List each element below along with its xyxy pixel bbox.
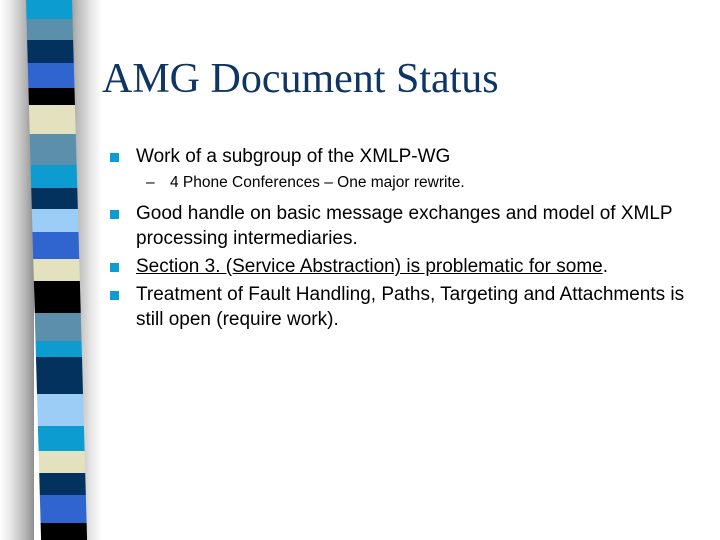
stripe-segment xyxy=(31,188,78,209)
bullet-item: Section 3. (Service Abstraction) is prob… xyxy=(102,254,702,279)
stripe-segment xyxy=(33,259,80,281)
en-dash-icon: – xyxy=(146,172,155,193)
stripe-segment xyxy=(32,209,79,232)
stripe-segment xyxy=(35,313,82,341)
stripe-segment xyxy=(32,232,79,259)
bullet-hyperlink-label[interactable]: Section 3. (Service Abstraction) is prob… xyxy=(136,254,702,279)
bullet-label: Treatment of Fault Handling, Paths, Targ… xyxy=(136,282,702,332)
bullet-item: Treatment of Fault Handling, Paths, Targ… xyxy=(102,282,702,332)
bullet-label: Good handle on basic message exchanges a… xyxy=(136,201,702,251)
stripe-segment xyxy=(30,134,77,165)
body-content: Work of a subgroup of the XMLP-WG–4 Phon… xyxy=(102,144,702,335)
square-bullet-icon xyxy=(110,291,119,300)
slide-canvas: AMG Document Status Work of a subgroup o… xyxy=(0,0,720,540)
bullet-label: Work of a subgroup of the XMLP-WG xyxy=(136,144,702,169)
stripe-segment xyxy=(27,19,74,40)
stripe-segment xyxy=(28,63,75,88)
square-bullet-icon xyxy=(110,263,119,272)
bullet-item: Good handle on basic message exchanges a… xyxy=(102,201,702,251)
square-bullet-icon xyxy=(110,210,119,219)
stripe-segment xyxy=(38,426,85,451)
stripe-segment xyxy=(40,495,87,522)
sidebar-decoration xyxy=(0,0,100,540)
stripe-segment xyxy=(39,451,86,473)
stripe-segment xyxy=(34,281,81,312)
stripe-segment xyxy=(41,523,87,540)
stripe-segment xyxy=(26,0,73,19)
bullet-item: Work of a subgroup of the XMLP-WG xyxy=(102,144,702,169)
square-bullet-icon xyxy=(110,153,119,162)
sub-bullet-item: –4 Phone Conferences – One major rewrite… xyxy=(102,172,702,193)
stripe-segment xyxy=(27,40,74,64)
stripe-segment xyxy=(36,341,82,357)
hyperlink-underlined-text[interactable]: Section 3. (Service Abstraction) is prob… xyxy=(136,256,603,277)
stripe-segment xyxy=(29,105,76,133)
page-title: AMG Document Status xyxy=(102,56,702,102)
sub-bullet-label: 4 Phone Conferences – One major rewrite. xyxy=(170,172,702,193)
stripe-segment xyxy=(37,394,84,426)
stripe-segment xyxy=(39,473,86,496)
stripe-segment xyxy=(36,357,83,394)
stripe-segment xyxy=(31,165,78,189)
hyperlink-trailing-text: . xyxy=(603,256,608,277)
stripe-segment xyxy=(28,88,74,105)
